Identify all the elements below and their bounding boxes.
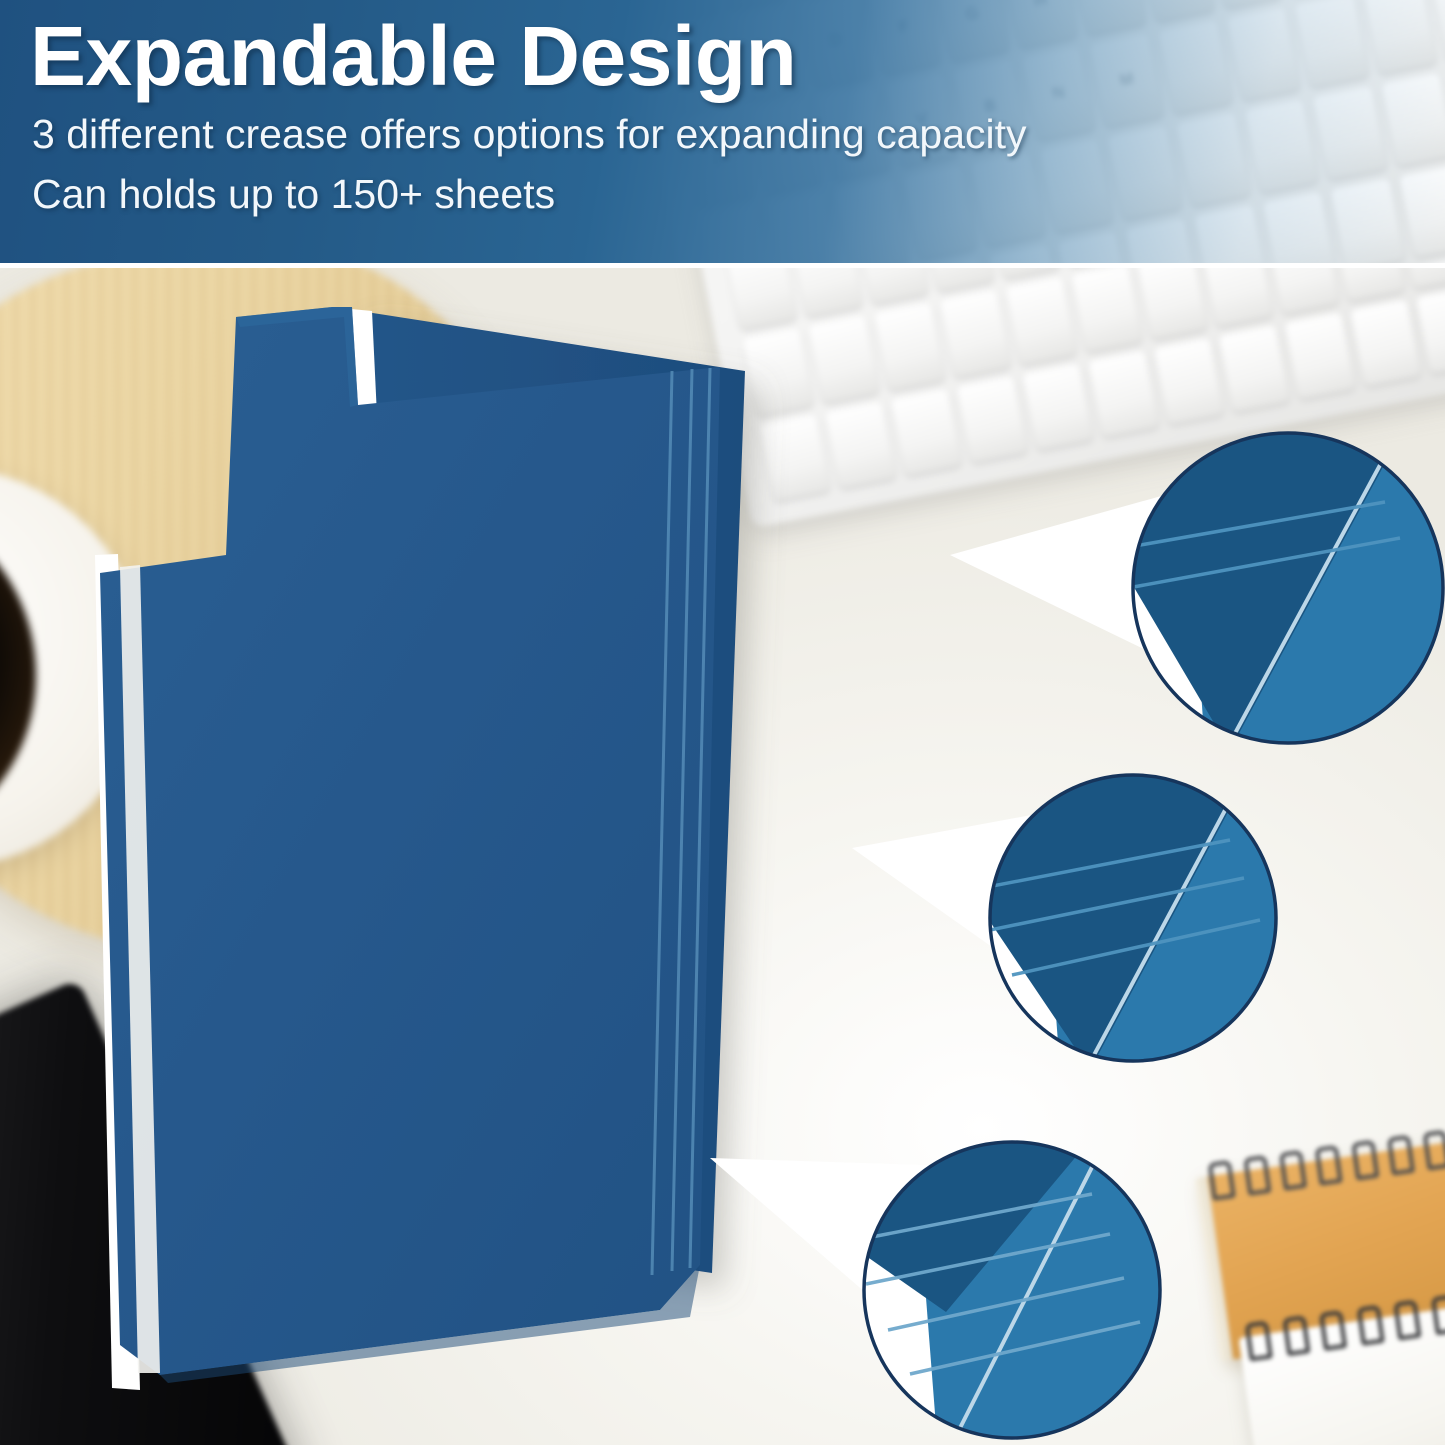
header-divider [0,263,1445,268]
callout-crease-2[interactable] [840,770,1280,1070]
callout-crease-1[interactable] [930,420,1445,770]
subtitle-line-2: Can holds up to 150+ sheets [32,168,1425,220]
product-feature-image: QWERTYUIOPASDFGHJKLZXCVBNM [0,0,1445,1445]
subtitle-line-1: 3 different crease offers options for ex… [32,108,1425,160]
callout-crease-3[interactable] [700,1132,1170,1445]
header-text-block: Expandable Design 3 different crease off… [30,14,1425,221]
page-title: Expandable Design [30,14,1425,100]
header-banner: QWERTYUIOPASDFGHJKLZXCVBNM Expandable De… [0,0,1445,268]
